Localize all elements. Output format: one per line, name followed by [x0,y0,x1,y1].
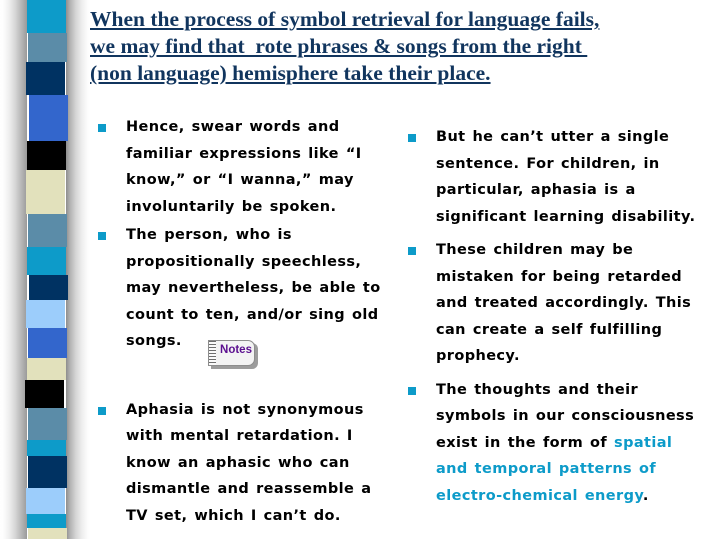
square-bullet-icon [408,134,416,142]
right-content-column: But he can’t utter a single sentence. Fo… [404,124,704,516]
square-bullet-icon [98,124,106,132]
stripe-band-8 [27,247,66,275]
stripe-band-9 [29,275,68,300]
page-title-line-3: (non language) hemisphere take their pla… [90,60,655,87]
stripe-band-1 [27,0,66,33]
stripe-band-15 [27,440,66,456]
square-bullet-icon [98,407,106,415]
stripe-band-6 [26,170,65,214]
stripe-band-11 [28,328,67,358]
list-item-label: But he can’t utter a single sentence. Fo… [436,124,704,230]
list-item-label: These children may be mistaken for being… [436,237,704,370]
stripe-band-2 [28,33,67,62]
notes-button[interactable]: Notes [208,340,258,369]
list-item-label: The thoughts and their symbols in our co… [436,377,704,510]
square-bullet-icon [98,232,106,240]
list-item: Aphasia is not synonymous with mental re… [94,397,394,530]
list-item: The thoughts and their symbols in our co… [404,377,704,510]
stripe-band-13 [25,380,64,408]
stripe-band-18 [27,514,66,528]
stripe-band-16 [28,456,67,488]
list-item-label: Aphasia is not synonymous with mental re… [126,397,394,530]
stripe-color-bands [27,0,66,539]
stripe-shadow-right [66,0,90,539]
slide-canvas: When the process of symbol retrieval for… [0,0,719,539]
left-stripe-decoration [0,0,90,539]
list-item: These children may be mistaken for being… [404,237,704,370]
left-content-column: Hence, swear words and familiar expressi… [94,114,394,533]
stripe-band-19 [28,528,67,539]
page-title-line-2: we may find that rote phrases & songs fr… [90,33,655,60]
page-title: When the process of symbol retrieval for… [90,6,655,87]
stripe-band-7 [28,214,67,247]
list-item: The person, who is propositionally speec… [94,222,394,355]
square-bullet-icon [408,247,416,255]
notes-button-label: Notes [218,344,254,356]
list-item: But he can’t utter a single sentence. Fo… [404,124,704,230]
list-item-label: Hence, swear words and familiar expressi… [126,114,394,220]
square-bullet-icon [408,387,416,395]
stripe-shadow-left [0,0,27,539]
spiral-rings-icon [209,341,216,365]
page-title-line-1: When the process of symbol retrieval for… [90,6,655,33]
stripe-band-14 [28,408,67,440]
list-item-tail-text: . [643,488,649,504]
list-item-label: The person, who is propositionally speec… [126,222,394,355]
stripe-band-10 [26,300,65,328]
stripe-band-3 [26,62,65,95]
list-item: Hence, swear words and familiar expressi… [94,114,394,220]
stripe-band-5 [27,141,66,170]
stripe-band-12 [27,358,66,380]
stripe-band-4 [29,95,68,141]
stripe-band-17 [26,488,65,514]
